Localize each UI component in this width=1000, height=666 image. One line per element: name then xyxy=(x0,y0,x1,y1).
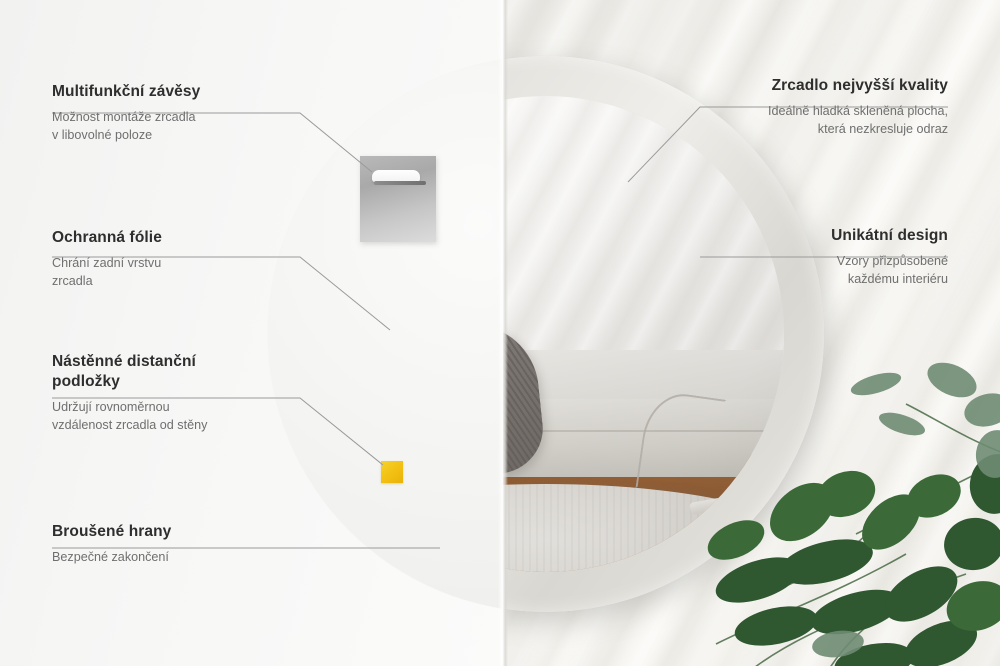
feature-desc: Možnost montáže zrcadla v libovolné polo… xyxy=(52,109,292,145)
hanger-plate-marker xyxy=(360,156,436,242)
feature-title: Broušené hrany xyxy=(52,522,292,542)
panel-seam xyxy=(498,0,508,666)
yellow-spacer-pad-marker xyxy=(381,461,403,483)
feature-nastenne-distancni-podlozky: Nástěnné distanční podložky Udržují rovn… xyxy=(52,352,302,434)
hanger-bar xyxy=(374,181,426,185)
infographic-stage: Multifunkční závěsy Možnost montáže zrca… xyxy=(0,0,1000,666)
feature-title: Unikátní design xyxy=(668,226,948,246)
feature-title: Multifunkční závěsy xyxy=(52,82,292,102)
feature-title: Zrcadlo nejvyšší kvality xyxy=(668,76,948,96)
feature-ochranna-folie: Ochranná fólie Chrání zadní vrstvu zrcad… xyxy=(52,228,292,291)
feature-zrcadlo-nejvyssi-kvality: Zrcadlo nejvyšší kvality Ideálně hladká … xyxy=(668,76,948,139)
feature-multifunkcni-zavesy: Multifunkční závěsy Možnost montáže zrca… xyxy=(52,82,292,145)
feature-title: Nástěnné distanční podložky xyxy=(52,352,302,392)
feature-brousene-hrany: Broušené hrany Bezpečné zakončení xyxy=(52,522,292,567)
feature-title: Ochranná fólie xyxy=(52,228,292,248)
feature-desc: Bezpečné zakončení xyxy=(52,549,292,567)
feature-unikatni-design: Unikátní design Vzory přizpůsobené každé… xyxy=(668,226,948,289)
feature-desc: Chrání zadní vrstvu zrcadla xyxy=(52,255,292,291)
feature-desc: Udržují rovnoměrnou vzdálenost zrcadla o… xyxy=(52,399,302,435)
green-leaves xyxy=(706,344,1000,666)
feature-desc: Vzory přizpůsobené každému interiéru xyxy=(668,253,948,289)
feature-desc: Ideálně hladká skleněná plocha, která ne… xyxy=(668,103,948,139)
